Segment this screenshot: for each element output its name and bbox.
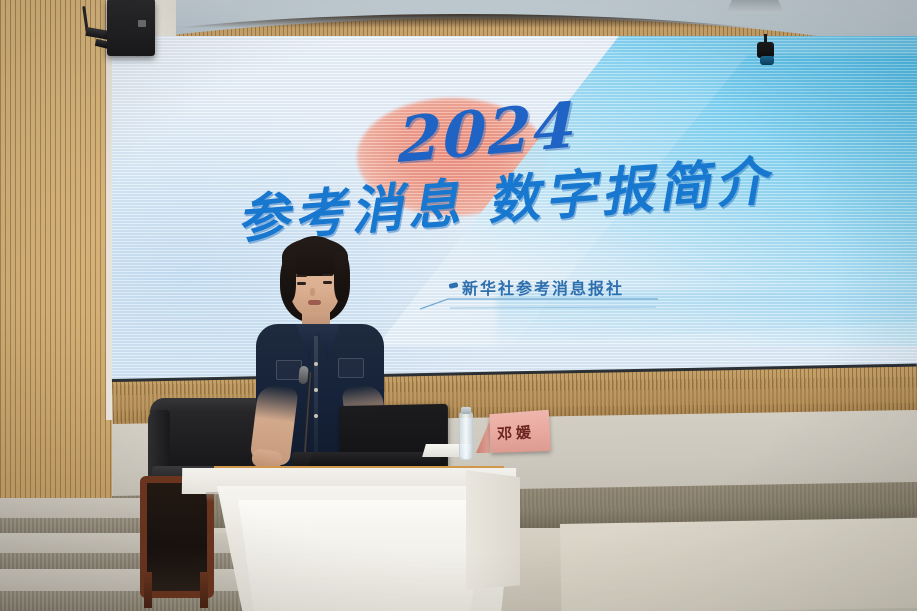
presentation-photo: 2024 参考消息 数字报简介 新华社参考消息报社: [0, 0, 917, 611]
wooden-chair-leg-right: [200, 572, 208, 608]
ptz-camera-lens-icon: [760, 56, 774, 65]
nose: [310, 288, 315, 296]
shirt-placket: [314, 336, 318, 464]
shirt-button-2: [314, 388, 318, 392]
eye-left: [297, 282, 306, 285]
hair-side-left: [281, 254, 296, 302]
shirt-button-1: [314, 362, 318, 366]
subtitle-underline: [420, 298, 660, 310]
mouth: [308, 300, 321, 305]
podium-right-panel: [466, 470, 520, 590]
water-bottle-cap: [461, 407, 471, 414]
wall-speaker-icon: [107, 0, 155, 56]
shirt-button-3: [314, 414, 318, 418]
eye-right: [323, 281, 332, 284]
floor-right: [560, 518, 917, 611]
speaker-badge: [138, 20, 146, 27]
wooden-chair-leg-left: [144, 572, 152, 608]
step-riser-3: [0, 591, 262, 611]
eyebrow-left: [296, 275, 307, 277]
nameplate-label: 邓媛: [496, 421, 543, 444]
water-bottle: [459, 412, 473, 460]
ceiling-vent-icon: [726, 0, 784, 13]
eyebrow-right: [322, 274, 333, 276]
slide-subtitle: 新华社参考消息报社: [462, 275, 624, 299]
left-wood-slat-wall: [0, 0, 112, 560]
podium-front-face: [228, 500, 486, 611]
chest-pocket-right: [338, 358, 364, 378]
